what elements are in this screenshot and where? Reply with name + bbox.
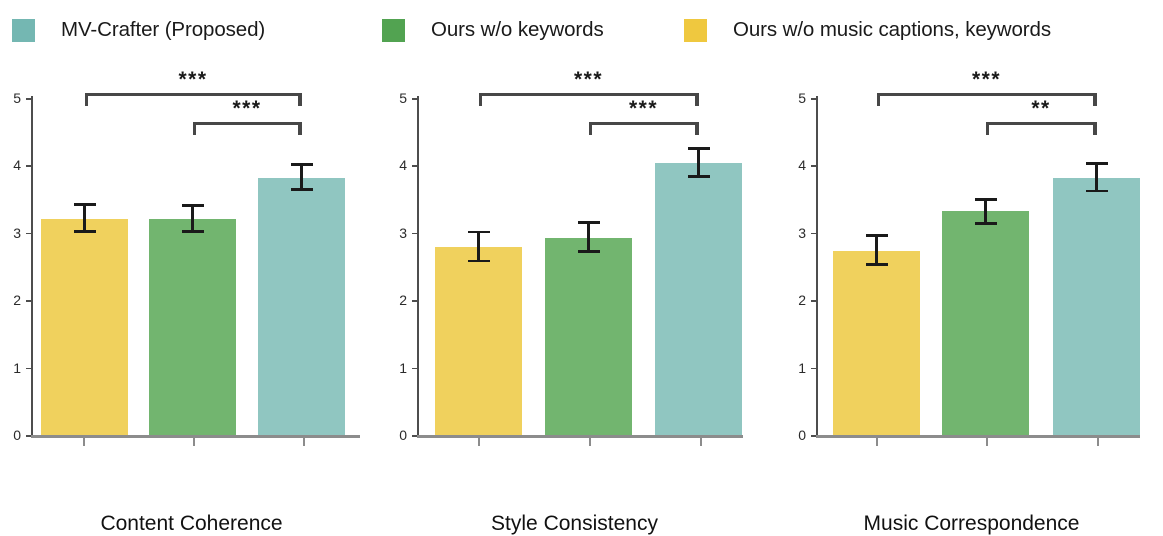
error-bar <box>149 204 236 232</box>
error-bar-cap-bottom <box>975 222 997 225</box>
error-bar-cap-top <box>578 221 600 224</box>
y-axis-tick <box>811 435 816 437</box>
subplot-music-correspondence: 012345***** Music Correspondence <box>780 60 1163 508</box>
bar <box>1053 178 1140 435</box>
bar <box>655 163 742 435</box>
error-bar-cap-top <box>866 234 888 237</box>
bracket-line <box>85 93 302 96</box>
error-bar-line <box>587 221 590 253</box>
x-axis-tick <box>700 438 702 446</box>
figure-root: MV-Crafter (Proposed) Ours w/o keywords … <box>0 0 1163 508</box>
significance-stars: *** <box>85 69 302 90</box>
y-axis-tick <box>811 98 816 100</box>
error-bar-cap-bottom <box>182 230 204 233</box>
bar <box>149 219 236 435</box>
error-bar-line <box>1095 162 1098 192</box>
legend-label: Ours w/o music captions, keywords <box>733 18 1051 42</box>
x-axis-tick <box>1097 438 1099 446</box>
error-bar <box>1053 162 1140 192</box>
error-bar <box>942 198 1029 224</box>
error-bar-cap-bottom <box>1086 190 1108 193</box>
bar <box>833 251 920 435</box>
error-bar-cap-bottom <box>688 175 710 178</box>
y-axis-tick <box>811 165 816 167</box>
error-bar <box>258 163 345 191</box>
y-axis-tick <box>26 300 31 302</box>
y-axis-tick-label: 0 <box>0 428 21 442</box>
y-axis-tick-label: 4 <box>0 158 21 172</box>
legend-item-mv-crafter: MV-Crafter (Proposed) <box>12 18 265 42</box>
x-axis-label: Content Coherence <box>0 512 383 536</box>
bracket-right-leg <box>298 122 301 135</box>
y-axis-tick <box>26 165 31 167</box>
bracket-left-leg <box>193 122 196 135</box>
error-bar-line <box>477 231 480 263</box>
error-bar-line <box>697 147 700 177</box>
error-bar-cap-top <box>975 198 997 201</box>
error-bar <box>435 231 522 263</box>
legend-label: MV-Crafter (Proposed) <box>61 18 265 42</box>
error-bar <box>833 234 920 266</box>
y-axis-tick <box>412 165 417 167</box>
y-axis-tick-label: 3 <box>784 226 806 240</box>
error-bar <box>545 221 632 253</box>
bracket-line <box>589 122 699 125</box>
error-bar-line <box>83 203 86 233</box>
y-axis-tick-label: 2 <box>784 293 806 307</box>
x-axis-line <box>31 435 360 438</box>
error-bar-cap-bottom <box>74 230 96 233</box>
bar <box>942 211 1029 435</box>
error-bar-line <box>191 204 194 232</box>
y-axis-tick-label: 5 <box>784 91 806 105</box>
y-axis-tick-label: 5 <box>385 91 407 105</box>
plot-area: 012345****** <box>383 60 766 508</box>
error-bar-cap-bottom <box>291 188 313 191</box>
error-bar-cap-top <box>688 147 710 150</box>
legend-swatch-icon <box>684 19 707 42</box>
bar <box>435 247 522 435</box>
subplot-style-consistency: 012345****** Style Consistency <box>383 60 766 508</box>
y-axis-tick <box>26 233 31 235</box>
y-axis-tick <box>412 233 417 235</box>
legend-swatch-icon <box>382 19 405 42</box>
y-axis-tick-label: 1 <box>784 361 806 375</box>
significance-bracket: *** <box>193 122 302 135</box>
x-axis-tick <box>478 438 480 446</box>
y-axis-tick-label: 3 <box>385 226 407 240</box>
x-axis-line <box>417 435 743 438</box>
x-axis-label: Music Correspondence <box>780 512 1163 536</box>
y-axis-tick-label: 5 <box>0 91 21 105</box>
x-axis-tick <box>876 438 878 446</box>
error-bar-cap-bottom <box>866 263 888 266</box>
y-axis-tick <box>26 98 31 100</box>
y-axis-tick <box>26 435 31 437</box>
bracket-line <box>479 93 699 96</box>
error-bar-cap-top <box>74 203 96 206</box>
bracket-line <box>193 122 302 125</box>
y-axis-tick-label: 0 <box>385 428 407 442</box>
y-axis-tick-label: 2 <box>0 293 21 307</box>
subplot-content-coherence: 012345****** Content Coherence <box>0 60 383 508</box>
bracket-left-leg <box>877 93 880 106</box>
y-axis-tick <box>26 368 31 370</box>
error-bar-line <box>875 234 878 266</box>
legend-swatch-icon <box>12 19 35 42</box>
chart-legend: MV-Crafter (Proposed) Ours w/o keywords … <box>0 0 1163 60</box>
y-axis-tick <box>811 368 816 370</box>
plot-area: 012345***** <box>780 60 1163 508</box>
significance-stars: *** <box>193 98 302 119</box>
y-axis-tick-label: 4 <box>385 158 407 172</box>
bracket-line <box>877 93 1097 96</box>
y-axis-tick-label: 0 <box>784 428 806 442</box>
bar <box>41 219 128 435</box>
legend-label: Ours w/o keywords <box>431 18 604 42</box>
plot-area: 012345****** <box>0 60 383 508</box>
x-axis-tick <box>193 438 195 446</box>
bracket-left-leg <box>589 122 592 135</box>
error-bar-line <box>984 198 987 224</box>
x-axis-label: Style Consistency <box>383 512 766 536</box>
bar <box>258 178 345 435</box>
y-axis-tick-label: 4 <box>784 158 806 172</box>
error-bar <box>41 203 128 233</box>
significance-stars: *** <box>589 98 699 119</box>
significance-bracket: *** <box>589 122 699 135</box>
bracket-right-leg <box>1093 122 1096 135</box>
y-axis-tick <box>412 98 417 100</box>
y-axis-tick-label: 1 <box>385 361 407 375</box>
y-axis-tick-label: 1 <box>0 361 21 375</box>
y-axis-tick <box>811 300 816 302</box>
x-axis-tick <box>83 438 85 446</box>
error-bar-cap-bottom <box>468 260 490 263</box>
y-axis-line <box>816 96 818 435</box>
error-bar-cap-top <box>182 204 204 207</box>
bracket-line <box>986 122 1097 125</box>
y-axis-line <box>417 96 419 435</box>
error-bar <box>655 147 742 177</box>
error-bar-line <box>300 163 303 191</box>
error-bar-cap-bottom <box>578 250 600 253</box>
y-axis-tick <box>412 435 417 437</box>
x-axis-tick <box>589 438 591 446</box>
y-axis-tick <box>811 233 816 235</box>
x-axis-tick <box>303 438 305 446</box>
y-axis-tick-label: 3 <box>0 226 21 240</box>
error-bar-cap-top <box>291 163 313 166</box>
significance-stars: ** <box>986 98 1097 119</box>
x-axis-tick <box>986 438 988 446</box>
significance-stars: *** <box>877 69 1097 90</box>
x-axis-line <box>816 435 1140 438</box>
bracket-left-leg <box>986 122 989 135</box>
y-axis-tick <box>412 300 417 302</box>
bar <box>545 238 632 435</box>
y-axis-line <box>31 96 33 435</box>
significance-bracket: ** <box>986 122 1097 135</box>
y-axis-tick <box>412 368 417 370</box>
bracket-left-leg <box>479 93 482 106</box>
error-bar-cap-top <box>468 231 490 234</box>
error-bar-cap-top <box>1086 162 1108 165</box>
bracket-right-leg <box>695 122 698 135</box>
y-axis-tick-label: 2 <box>385 293 407 307</box>
significance-stars: *** <box>479 69 699 90</box>
legend-item-ours-wo-music-captions-keywords: Ours w/o music captions, keywords <box>684 18 1051 42</box>
legend-item-ours-wo-keywords: Ours w/o keywords <box>382 18 604 42</box>
bracket-left-leg <box>85 93 88 106</box>
